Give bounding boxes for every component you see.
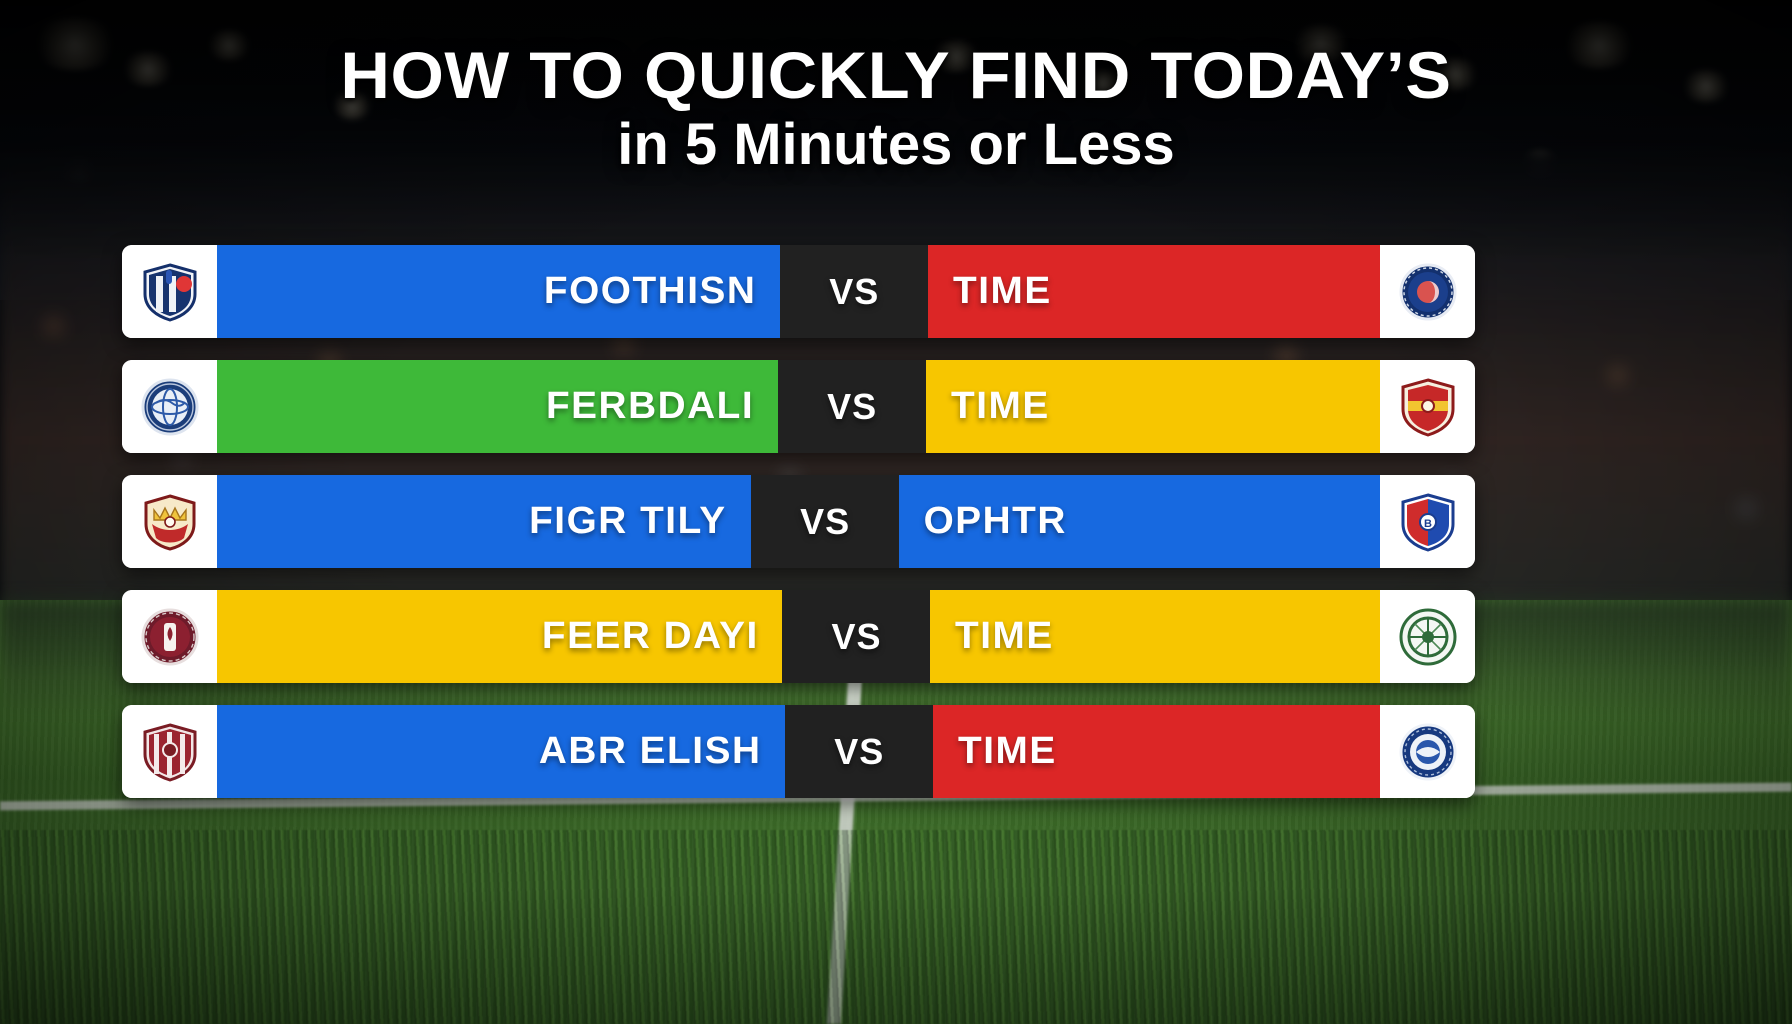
away-team-panel: OPHTR [899,475,1380,568]
vs-label: VS [829,271,879,313]
away-team-badge [1380,245,1475,338]
vs-separator: VS [751,475,899,568]
away-team-name: TIME [951,385,1050,428]
match-row[interactable]: FOOTHISNVSTIME [122,245,1475,338]
fixture-graphic: HOW TO QUICKLY FIND TODAY’S in 5 Minutes… [0,0,1792,1024]
match-row[interactable]: FIGR TILYVSOPHTRB [122,475,1475,568]
home-team-panel: FERBDALI [217,360,778,453]
match-row[interactable]: ABR ELISHVSTIME [122,705,1475,798]
vs-separator: VS [782,590,930,683]
vs-separator: VS [778,360,926,453]
home-team-badge [122,245,217,338]
match-row[interactable]: FERBDALIVSTIME [122,360,1475,453]
home-team-name: FIGR TILY [529,500,727,543]
vs-label: VS [827,386,877,428]
home-team-badge [122,360,217,453]
home-team-panel: FOOTHISN [217,245,780,338]
vs-label: VS [800,501,850,543]
page-title: HOW TO QUICKLY FIND TODAY’S in 5 Minutes… [0,42,1792,178]
svg-text:B: B [1424,518,1432,530]
vs-separator: VS [785,705,933,798]
grass-foreground [0,830,1792,1024]
home-team-badge [122,705,217,798]
away-team-name: OPHTR [924,500,1067,543]
away-team-badge [1380,360,1475,453]
home-team-panel: FIGR TILY [217,475,751,568]
away-team-name: TIME [956,615,1055,658]
title-line-2: in 5 Minutes or Less [0,113,1792,178]
away-team-panel: TIME [926,360,1380,453]
home-team-panel: FEER DAYI [217,590,782,683]
home-team-panel: ABR ELISH [217,705,785,798]
vs-label: VS [834,731,884,773]
home-team-name: FEER DAYI [542,615,759,658]
home-team-name: FOOTHISN [544,270,756,313]
home-team-name: ABR ELISH [539,730,762,773]
away-team-panel: TIME [930,590,1380,683]
home-team-name: FERBDALI [546,385,754,428]
home-team-badge [122,590,217,683]
away-team-badge: B [1380,475,1475,568]
title-line-1: HOW TO QUICKLY FIND TODAY’S [0,42,1792,109]
away-team-name: TIME [953,270,1052,313]
away-team-name: TIME [958,730,1057,773]
away-team-badge [1380,590,1475,683]
match-row[interactable]: FEER DAYIVSTIME [122,590,1475,683]
away-team-badge [1380,705,1475,798]
away-team-panel: TIME [928,245,1380,338]
away-team-panel: TIME [933,705,1380,798]
vs-label: VS [831,616,881,658]
match-list: FOOTHISNVSTIMEFERBDALIVSTIMEFIGR TILYVSO… [122,245,1475,820]
vs-separator: VS [780,245,928,338]
home-team-badge [122,475,217,568]
